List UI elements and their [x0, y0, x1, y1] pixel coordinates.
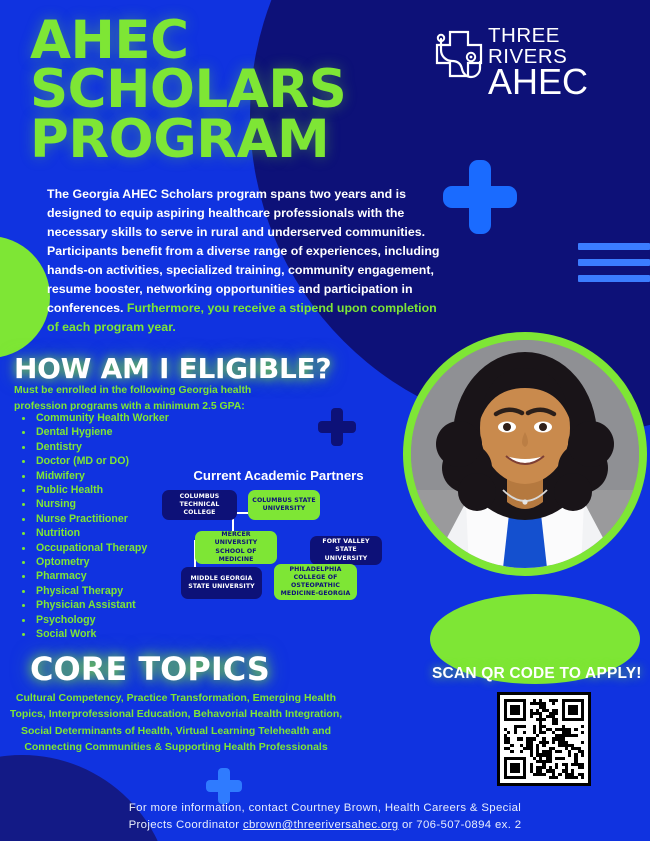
list-item: Psychology [14, 613, 274, 627]
intro-paragraph: The Georgia AHEC Scholars program spans … [47, 185, 445, 337]
footer-line-2-post: or 706-507-0894 ex. 2 [398, 819, 521, 831]
avatar [411, 340, 639, 568]
core-topics-heading: CORE TOPICS [30, 650, 270, 688]
plus-icon-large [443, 160, 517, 234]
partner-node-label: COLUMBUS TECHNICAL COLLEGE [166, 493, 233, 518]
core-topics-body: Cultural Competency, Practice Transforma… [8, 690, 344, 755]
plus-icon-footer [206, 768, 242, 804]
list-item: Doctor (MD or DO) [14, 454, 274, 468]
email-link[interactable]: cbrown@threeriversahec.org [243, 819, 399, 831]
partner-node-label: PHILADELPHIA COLLEGE OF OSTEOPATHIC MEDI… [278, 566, 353, 599]
partner-node-label: MIDDLE GEORGIA STATE UNIVERSITY [185, 575, 258, 591]
footer-line-1: For more information, contact Courtney B… [0, 800, 650, 817]
plus-icon-eligibility [318, 408, 356, 446]
title-line-1: AHEC [30, 16, 430, 65]
partner-node-label: COLUMBUS STATE UNIVERSITY [252, 497, 316, 513]
eligibility-heading: HOW AM I ELIGIBLE? [14, 352, 331, 385]
intro-text-white: The Georgia AHEC Scholars program spans … [47, 187, 439, 315]
partner-node-fort-valley-state-university[interactable]: FORT VALLEY STATE UNIVERSITY [310, 536, 382, 565]
partner-node-philadelphia-college-of-osteopathic-medicine-georgia[interactable]: PHILADELPHIA COLLEGE OF OSTEOPATHIC MEDI… [274, 564, 357, 600]
footer-contact: For more information, contact Courtney B… [0, 800, 650, 834]
partner-node-columbus-technical-college[interactable]: COLUMBUS TECHNICAL COLLEGE [162, 490, 237, 520]
partner-node-middle-georgia-state-university[interactable]: MIDDLE GEORGIA STATE UNIVERSITY [181, 567, 262, 599]
stripes-decoration [578, 243, 650, 291]
partner-node-columbus-state-university[interactable]: COLUMBUS STATE UNIVERSITY [248, 490, 320, 520]
three-rivers-ahec-logo: THREE RIVERS AHEC [430, 26, 630, 88]
list-item: Social Work [14, 627, 274, 641]
list-item: Dentistry [14, 440, 274, 454]
title-line-2: SCHOLARS [30, 65, 430, 114]
poster-title: AHEC SCHOLARS PROGRAM [30, 16, 430, 164]
qr-code-icon[interactable] [497, 692, 591, 786]
title-line-3: PROGRAM [30, 115, 430, 164]
scan-qr-heading: SCAN QR CODE TO APPLY! [432, 665, 642, 683]
partner-node-label: FORT VALLEY STATE UNIVERSITY [314, 538, 378, 563]
green-left-circle-decoration [0, 236, 50, 358]
logo-line-2: AHEC [488, 64, 630, 100]
partner-node-mercer-university-school-of-medicine[interactable]: MERCER UNIVERSITY SCHOOL OF MEDICINE [195, 531, 277, 564]
footer-line-2-pre: Projects Coordinator [129, 819, 243, 831]
cross-stethoscope-icon [430, 28, 488, 86]
academic-partners-diagram: Current Academic Partners COLUMBUS TECHN… [162, 468, 387, 603]
partners-title: Current Academic Partners [166, 468, 391, 483]
partner-node-label: MERCER UNIVERSITY SCHOOL OF MEDICINE [199, 531, 273, 564]
list-item: Dental Hygiene [14, 425, 274, 439]
poster-canvas: THREE RIVERS AHEC AHEC SCHOLARS PROGRAM … [0, 0, 650, 841]
list-item: Community Health Worker [14, 411, 274, 425]
